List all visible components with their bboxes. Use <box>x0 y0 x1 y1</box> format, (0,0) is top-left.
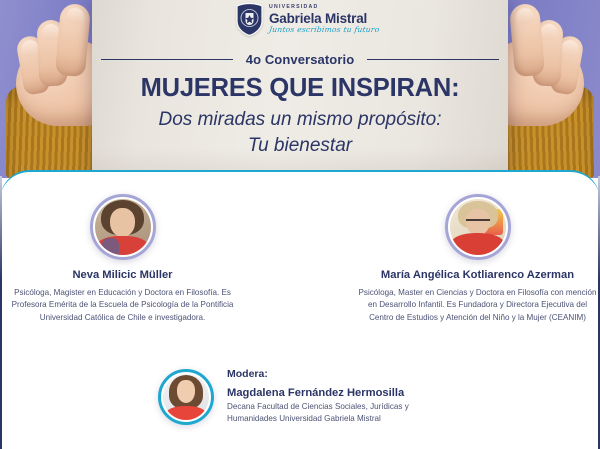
portrait-body <box>451 233 505 255</box>
fingernail-icon <box>516 7 534 24</box>
speaker-name: María Angélica Kotliarenco Azerman <box>355 268 600 283</box>
event-subtitle-line1: Dos miradas un mismo propósito: <box>0 107 600 133</box>
portrait-scarf <box>102 238 119 255</box>
speaker-portrait-maria-angelica <box>450 199 506 255</box>
portrait-body <box>167 406 206 420</box>
event-subtitle-line2: Tu bienestar <box>0 133 600 159</box>
speaker-card: Neva Milicic Müller Psicóloga, Magister … <box>0 194 245 324</box>
rule-right <box>367 59 499 61</box>
content-sheet: Neva Milicic Müller Psicóloga, Magister … <box>0 170 600 449</box>
moderator-label: Modera: <box>227 368 442 380</box>
moderator-name: Magdalena Fernández Hermosilla <box>227 387 442 399</box>
fingernail-icon <box>540 24 558 41</box>
speaker-avatar-ring <box>90 194 156 260</box>
portrait-face <box>110 208 136 237</box>
event-kicker: 4o Conversatorio <box>246 52 355 67</box>
hero-banner: UNIVERSIDAD Gabriela Mistral Juntos escr… <box>0 0 600 178</box>
speaker-name: Neva Milicic Müller <box>0 268 245 283</box>
event-subtitle: Dos miradas un mismo propósito: Tu biene… <box>0 107 600 159</box>
university-logo: UNIVERSIDAD Gabriela Mistral Juntos escr… <box>236 3 379 36</box>
shield-crest-icon <box>236 3 263 36</box>
moderator-avatar-ring <box>158 369 214 425</box>
kicker-row: 4o Conversatorio <box>0 52 600 67</box>
logo-name: Gabriela Mistral <box>269 12 379 26</box>
speaker-bio: Psicóloga, Magister en Educación y Docto… <box>0 287 245 325</box>
moderator-block: Modera: Magdalena Fernández Hermosilla D… <box>0 368 600 425</box>
moderator-portrait-magdalena <box>163 374 209 420</box>
logo-tagline: Juntos escribimos tu futuro <box>268 26 380 34</box>
speaker-avatar-ring <box>445 194 511 260</box>
portrait-face <box>177 380 195 403</box>
logo-eyebrow: UNIVERSIDAD <box>269 5 379 10</box>
rule-left <box>101 59 233 61</box>
border-rail-left <box>0 176 2 449</box>
speaker-bio: Psicóloga, Master en Ciencias y Doctora … <box>355 287 600 325</box>
portrait-glasses <box>466 219 490 226</box>
speaker-card: María Angélica Kotliarenco Azerman Psicó… <box>355 194 600 324</box>
speakers-list: Neva Milicic Müller Psicóloga, Magister … <box>0 194 600 324</box>
speaker-portrait-neva <box>95 199 151 255</box>
event-poster: UNIVERSIDAD Gabriela Mistral Juntos escr… <box>0 0 600 449</box>
event-title: MUJERES QUE INSPIRAN: <box>0 74 600 103</box>
moderator-role: Decana Facultad de Ciencias Sociales, Ju… <box>227 401 442 425</box>
fingernail-icon <box>66 7 84 24</box>
